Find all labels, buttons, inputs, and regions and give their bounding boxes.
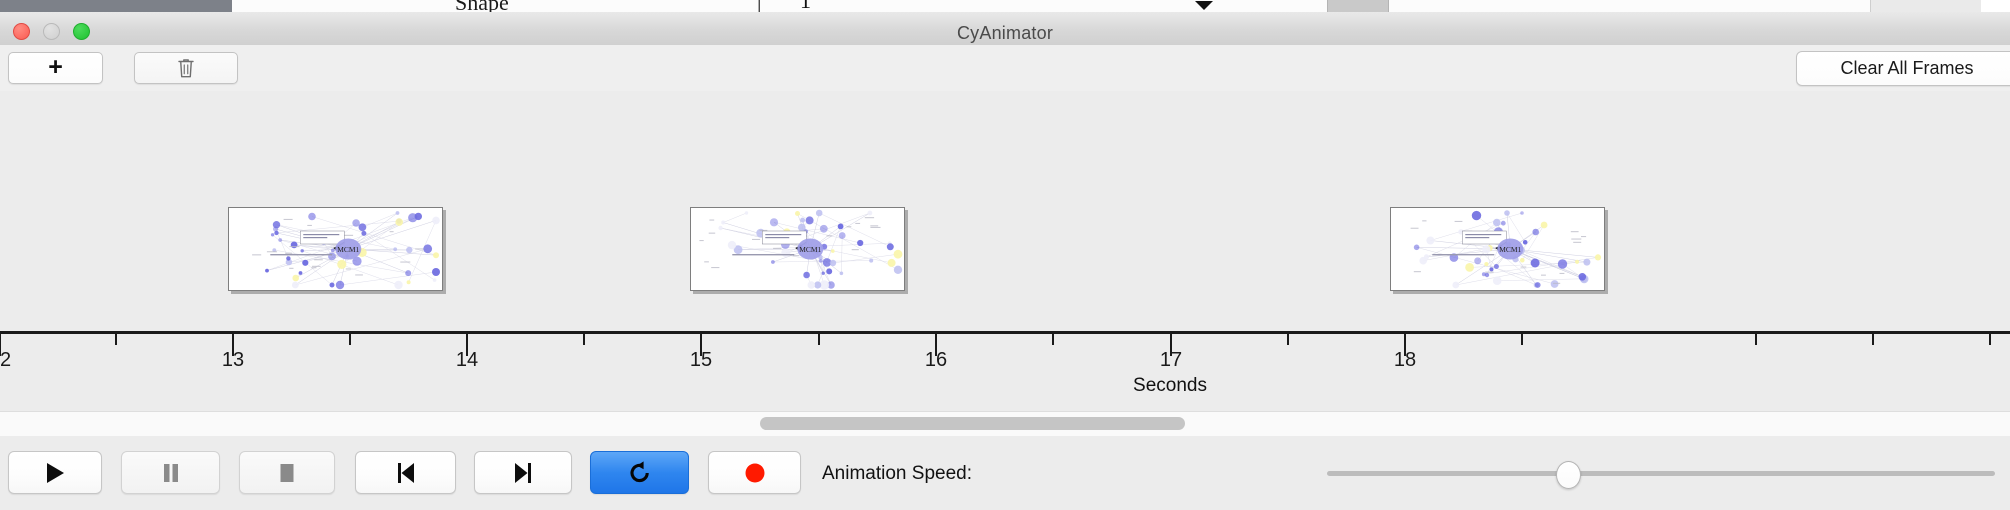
delete-frame-button[interactable] — [134, 52, 238, 84]
axis-minor-tick — [1287, 334, 1289, 345]
clear-all-frames-button[interactable]: Clear All Frames — [1796, 51, 2010, 86]
background-dark-panel — [0, 0, 232, 12]
stop-icon — [276, 461, 298, 485]
frame-toolbar: + Clear All Frames — [0, 45, 2010, 92]
timeline-panel[interactable]: Seconds MCM1MCM1MCM112131415161718 — [0, 91, 2010, 411]
axis-minor-tick — [1521, 334, 1523, 345]
timeline-frame-thumbnail[interactable]: MCM1 — [1390, 207, 1605, 291]
skip-back-icon — [395, 461, 417, 485]
background-button — [1327, 0, 1389, 12]
axis-minor-tick — [1755, 334, 1757, 345]
axis-title: Seconds — [0, 375, 2010, 397]
stop-button[interactable] — [239, 451, 335, 494]
timeline-frame-thumbnail[interactable]: MCM1 — [228, 207, 443, 291]
slider-thumb[interactable] — [1556, 461, 1581, 489]
cyanimator-window: Shape | 1 CyAnimator + Clear All Frames — [0, 0, 2010, 510]
background-app-label: Shape — [455, 0, 509, 12]
axis-tick-label: 15 — [671, 349, 731, 372]
playback-toolbar: Animation Speed: — [0, 436, 2010, 510]
background-cell — [933, 0, 1124, 12]
add-frame-button[interactable]: + — [8, 52, 103, 84]
pause-button[interactable] — [121, 451, 220, 494]
timeline-axis — [0, 331, 2010, 334]
svg-text:MCM1: MCM1 — [1499, 245, 1521, 254]
skip-forward-icon — [512, 461, 534, 485]
background-cell — [232, 0, 358, 12]
record-icon — [743, 461, 767, 485]
background-cell — [597, 0, 726, 12]
axis-minor-tick — [115, 334, 117, 345]
background-triangle-icon — [1195, 1, 1213, 10]
axis-tick-label: 17 — [1141, 349, 1201, 372]
axis-minor-tick — [583, 334, 585, 345]
background-cell — [1123, 0, 1328, 12]
animation-speed-label: Animation Speed: — [822, 463, 972, 485]
axis-minor-tick — [1052, 334, 1054, 345]
play-button[interactable] — [8, 451, 102, 494]
animation-speed-slider[interactable] — [1327, 471, 1995, 476]
timeline-scrollbar-thumb[interactable] — [760, 417, 1185, 430]
background-app-strip: Shape | 1 — [0, 0, 2010, 12]
title-bar: CyAnimator — [0, 12, 2010, 46]
pause-icon — [160, 461, 182, 485]
timeline-scrollbar[interactable] — [0, 411, 2010, 437]
window-title: CyAnimator — [0, 23, 2010, 44]
skip-to-start-button[interactable] — [355, 451, 456, 494]
plus-icon: + — [48, 55, 63, 80]
svg-text:MCM1: MCM1 — [799, 245, 821, 254]
axis-minor-tick — [1989, 334, 1991, 345]
background-cell — [1387, 0, 1871, 12]
axis-tick-label: 18 — [1375, 349, 1435, 372]
play-icon — [44, 461, 66, 485]
axis-tick-label: 12 — [0, 349, 30, 372]
loop-button[interactable] — [590, 451, 689, 494]
slider-track — [1327, 471, 1995, 476]
record-button[interactable] — [708, 451, 801, 494]
svg-text:MCM1: MCM1 — [337, 245, 359, 254]
axis-tick-label: 16 — [906, 349, 966, 372]
axis-minor-tick — [818, 334, 820, 345]
axis-tick-label: 14 — [437, 349, 497, 372]
background-right-box — [1870, 0, 1981, 12]
timeline-frame-thumbnail[interactable]: MCM1 — [690, 207, 905, 291]
loop-icon — [627, 460, 653, 486]
axis-tick-label: 13 — [203, 349, 263, 372]
axis-minor-tick — [349, 334, 351, 345]
trash-icon — [177, 58, 195, 79]
axis-minor-tick — [1872, 334, 1874, 345]
skip-to-end-button[interactable] — [474, 451, 572, 494]
clear-all-frames-label: Clear All Frames — [1840, 58, 1973, 79]
